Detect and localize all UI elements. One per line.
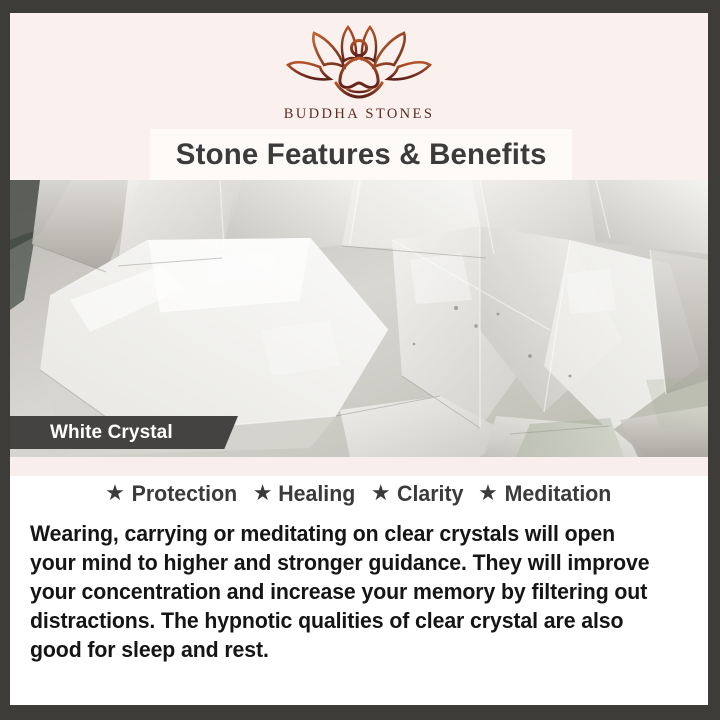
brand-name: BUDDHA STONES xyxy=(284,106,435,123)
card-header: BUDDHA STONES Stone Features & Benefits xyxy=(10,13,708,180)
benefit-label: Clarity xyxy=(397,481,463,507)
benefits-list: ★ Protection ★ Healing ★ Clarity ★ Medit… xyxy=(10,476,708,507)
divider-strip xyxy=(10,457,708,476)
lotus-meditation-icon xyxy=(284,21,434,103)
page-title: Stone Features & Benefits xyxy=(176,138,547,172)
star-icon: ★ xyxy=(478,482,498,504)
stone-name-banner: White Crystal xyxy=(10,416,238,449)
benefit-item-clarity: ★ Clarity xyxy=(371,481,464,507)
benefit-label: Healing xyxy=(279,481,356,507)
star-icon: ★ xyxy=(105,482,125,504)
crystal-photo-art xyxy=(10,180,708,457)
benefit-label: Meditation xyxy=(504,481,611,507)
title-band: Stone Features & Benefits xyxy=(150,129,572,181)
benefit-item-meditation: ★ Meditation xyxy=(478,481,613,507)
stone-name-label: White Crystal xyxy=(10,422,173,444)
description-text: Wearing, carrying or meditating on clear… xyxy=(30,519,655,664)
brand-logo: BUDDHA STONES xyxy=(10,21,708,123)
benefit-item-healing: ★ Healing xyxy=(253,481,357,507)
star-icon: ★ xyxy=(253,482,273,504)
benefit-label: Protection xyxy=(132,481,238,507)
star-icon: ★ xyxy=(371,482,391,504)
content-area: ★ Protection ★ Healing ★ Clarity ★ Medit… xyxy=(10,476,708,705)
benefit-item-protection: ★ Protection xyxy=(105,481,239,507)
crystal-photo: White Crystal xyxy=(10,180,708,457)
product-info-card: BUDDHA STONES Stone Features & Benefits xyxy=(10,13,708,705)
